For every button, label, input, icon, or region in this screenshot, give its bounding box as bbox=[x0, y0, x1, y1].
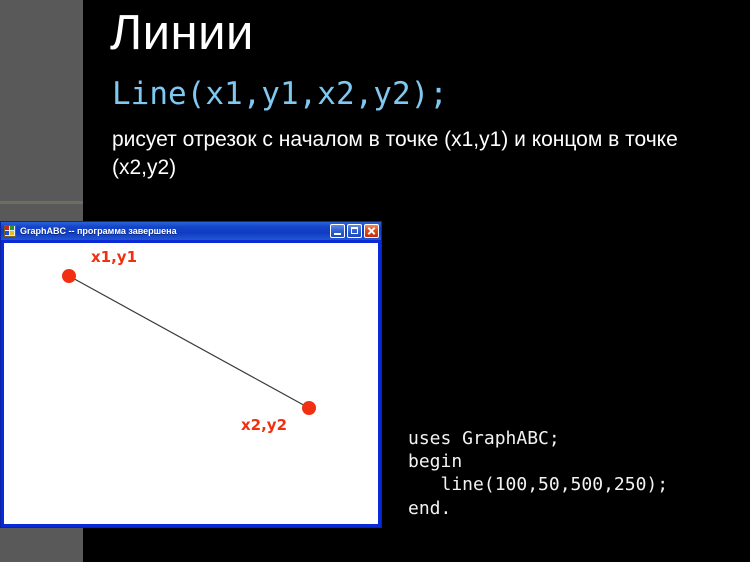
line-drawing bbox=[4, 243, 378, 524]
page-title: Линии bbox=[110, 8, 254, 59]
start-point-label: x1,y1 bbox=[91, 248, 137, 266]
code-line-2: begin bbox=[408, 451, 462, 472]
close-button[interactable] bbox=[364, 224, 379, 238]
function-description: рисует отрезок с началом в точке (x1,y1)… bbox=[112, 126, 724, 181]
code-sample: uses GraphABC; begin line(100,50,500,250… bbox=[408, 427, 668, 520]
code-line-3: line(100,50,500,250); bbox=[408, 474, 668, 495]
band-divider-line bbox=[0, 201, 83, 204]
maximize-button[interactable] bbox=[347, 224, 362, 238]
graphics-canvas[interactable]: x1,y1 x2,y2 bbox=[4, 243, 378, 524]
slide-canvas: Линии Line(x1,y1,x2,y2); рисует отрезок … bbox=[0, 0, 750, 562]
end-point-label: x2,y2 bbox=[241, 416, 287, 434]
minimize-button[interactable] bbox=[330, 224, 345, 238]
window-title-bar[interactable]: GraphABC -- программа завершена bbox=[1, 222, 381, 240]
graphabc-logo-icon bbox=[4, 225, 16, 237]
graphabc-window[interactable]: GraphABC -- программа завершена x1,y1 x2… bbox=[0, 221, 382, 528]
window-controls[interactable] bbox=[330, 224, 379, 238]
code-line-4: end. bbox=[408, 498, 451, 519]
function-signature: Line(x1,y1,x2,y2); bbox=[112, 78, 448, 111]
code-line-1: uses GraphABC; bbox=[408, 428, 560, 449]
window-title-text: GraphABC -- программа завершена bbox=[20, 226, 330, 236]
